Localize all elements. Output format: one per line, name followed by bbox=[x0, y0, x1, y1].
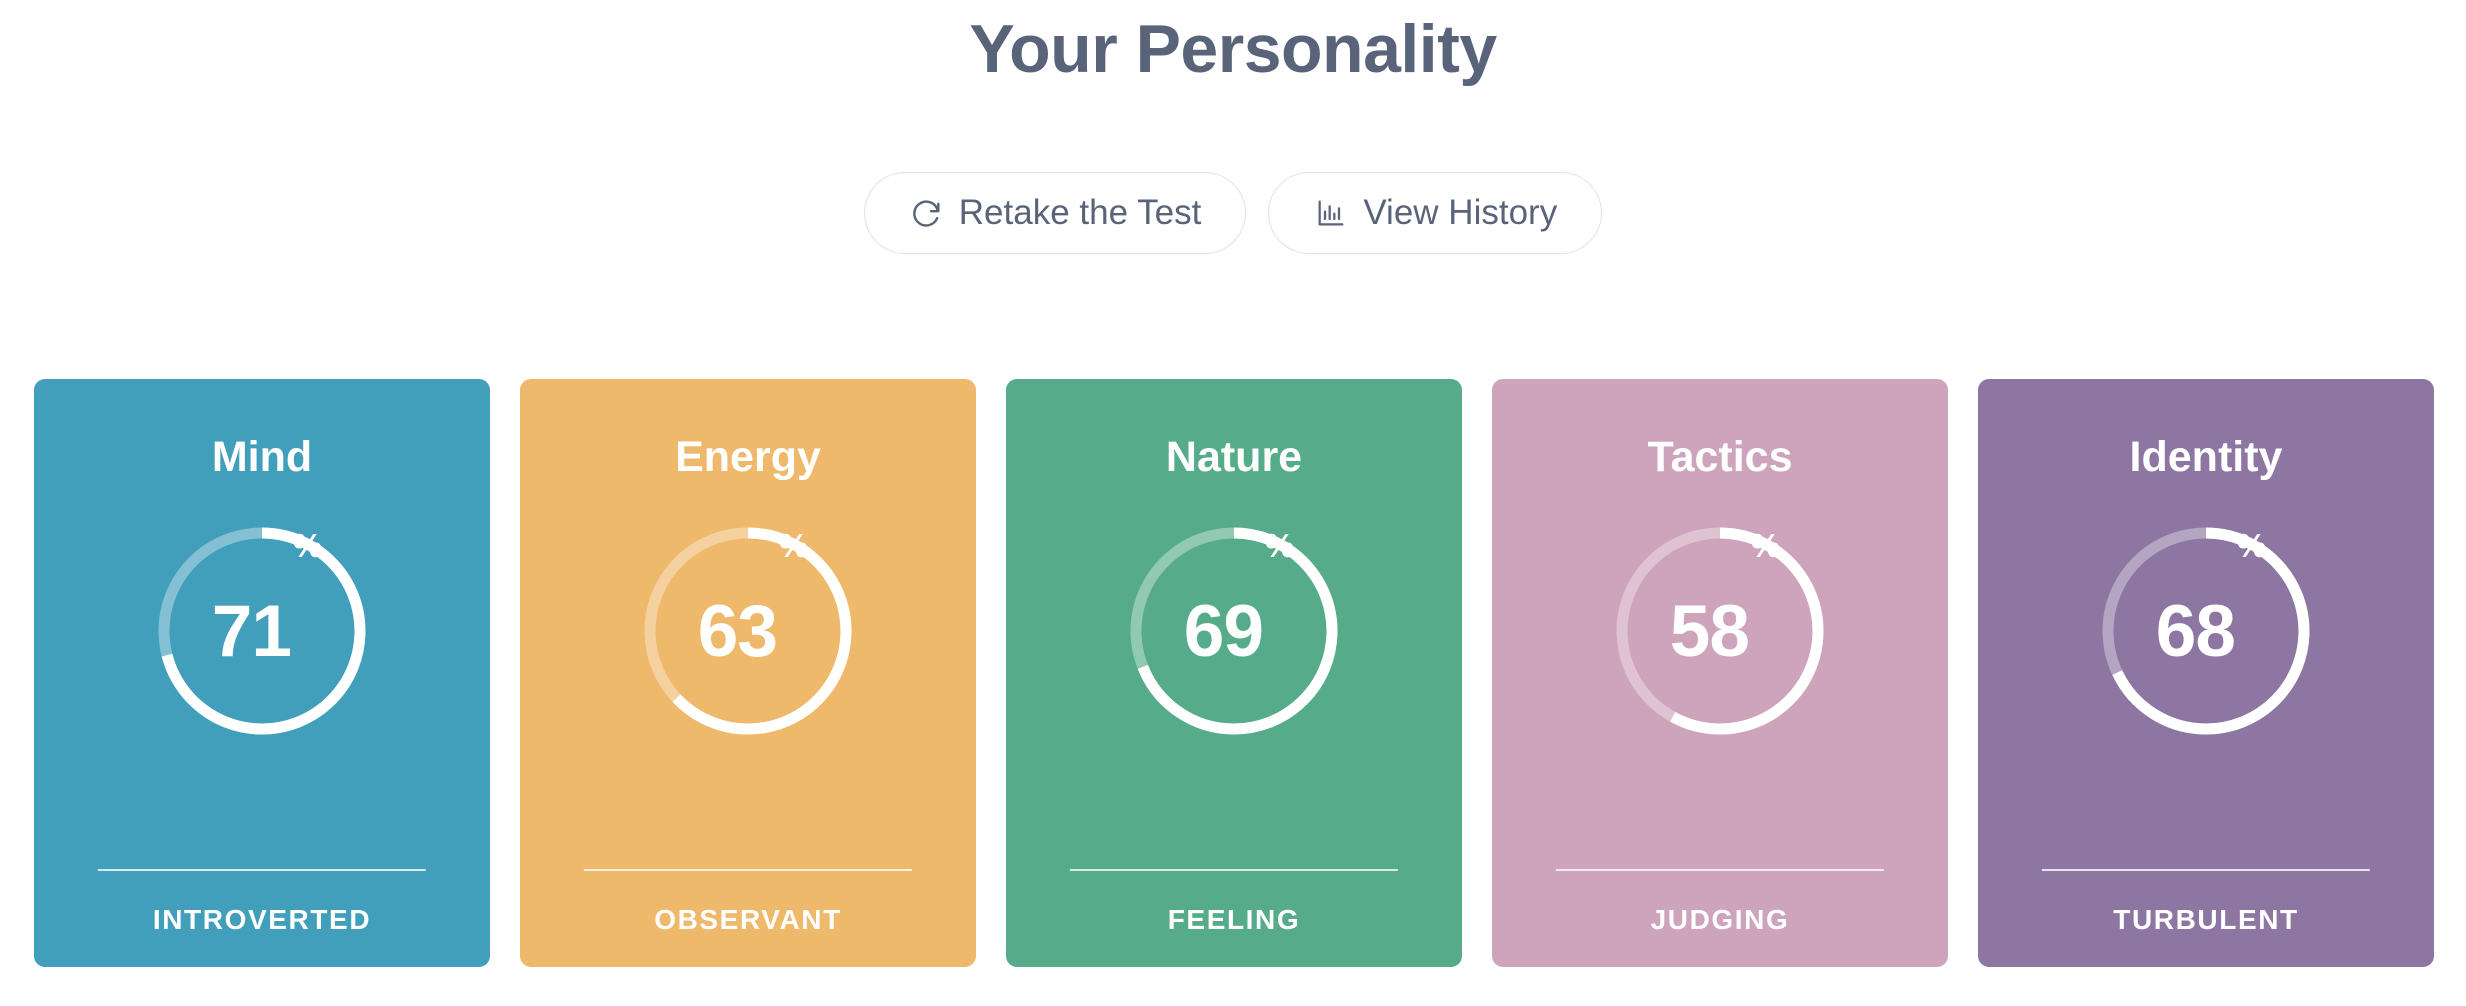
trait-label: TURBULENT bbox=[1978, 904, 2434, 936]
trait-title: Nature bbox=[1166, 436, 1302, 479]
card-divider bbox=[1556, 869, 1884, 871]
trait-card-nature[interactable]: Nature 69 % FEELING bbox=[1006, 379, 1462, 967]
trait-card-energy[interactable]: Energy 63 % OBSERVANT bbox=[520, 379, 976, 967]
card-divider bbox=[2042, 869, 2370, 871]
trait-label: OBSERVANT bbox=[520, 904, 976, 936]
trait-cards-row: Mind 71 % INTROVERTED Energy bbox=[34, 379, 2434, 967]
trait-card-tactics[interactable]: Tactics 58 % JUDGING bbox=[1492, 379, 1948, 967]
trait-card-mind[interactable]: Mind 71 % INTROVERTED bbox=[34, 379, 490, 967]
trait-title: Mind bbox=[212, 436, 312, 479]
trait-gauge: 58 % bbox=[1612, 523, 1828, 739]
gauge-percent-symbol: % bbox=[1751, 529, 1780, 562]
trait-label: FEELING bbox=[1006, 904, 1462, 936]
trait-gauge: 69 % bbox=[1126, 523, 1342, 739]
gauge-number: 63 bbox=[698, 595, 777, 668]
personality-results-page: Your Personality Retake the Test bbox=[0, 0, 2466, 1006]
card-divider bbox=[584, 869, 912, 871]
gauge-value: 63 % bbox=[640, 523, 856, 739]
trait-title: Energy bbox=[675, 436, 821, 479]
gauge-value: 68 % bbox=[2098, 523, 2314, 739]
card-divider bbox=[1070, 869, 1398, 871]
gauge-percent-symbol: % bbox=[779, 529, 808, 562]
gauge-number: 58 bbox=[1670, 595, 1749, 668]
gauge-number: 68 bbox=[2156, 595, 2235, 668]
gauge-value: 71 % bbox=[154, 523, 370, 739]
action-bar: Retake the Test View History bbox=[0, 172, 2466, 254]
page-title: Your Personality bbox=[0, 14, 2466, 85]
trait-title: Identity bbox=[2130, 436, 2283, 479]
trait-label: JUDGING bbox=[1492, 904, 1948, 936]
gauge-percent-symbol: % bbox=[1265, 529, 1294, 562]
retake-test-label: Retake the Test bbox=[959, 193, 1202, 233]
gauge-number: 69 bbox=[1184, 595, 1263, 668]
trait-gauge: 68 % bbox=[2098, 523, 2314, 739]
card-divider bbox=[98, 869, 426, 871]
view-history-label: View History bbox=[1363, 193, 1557, 233]
trait-label: INTROVERTED bbox=[34, 904, 490, 936]
gauge-percent-symbol: % bbox=[293, 529, 322, 562]
bar-chart-icon bbox=[1313, 195, 1349, 231]
gauge-value: 58 % bbox=[1612, 523, 1828, 739]
refresh-icon bbox=[909, 195, 945, 231]
gauge-percent-symbol: % bbox=[2237, 529, 2266, 562]
trait-card-identity[interactable]: Identity 68 % TURBULENT bbox=[1978, 379, 2434, 967]
trait-gauge: 63 % bbox=[640, 523, 856, 739]
gauge-value: 69 % bbox=[1126, 523, 1342, 739]
view-history-button[interactable]: View History bbox=[1268, 172, 1602, 254]
trait-title: Tactics bbox=[1648, 436, 1793, 479]
retake-test-button[interactable]: Retake the Test bbox=[864, 172, 1247, 254]
gauge-number: 71 bbox=[212, 595, 291, 668]
trait-gauge: 71 % bbox=[154, 523, 370, 739]
